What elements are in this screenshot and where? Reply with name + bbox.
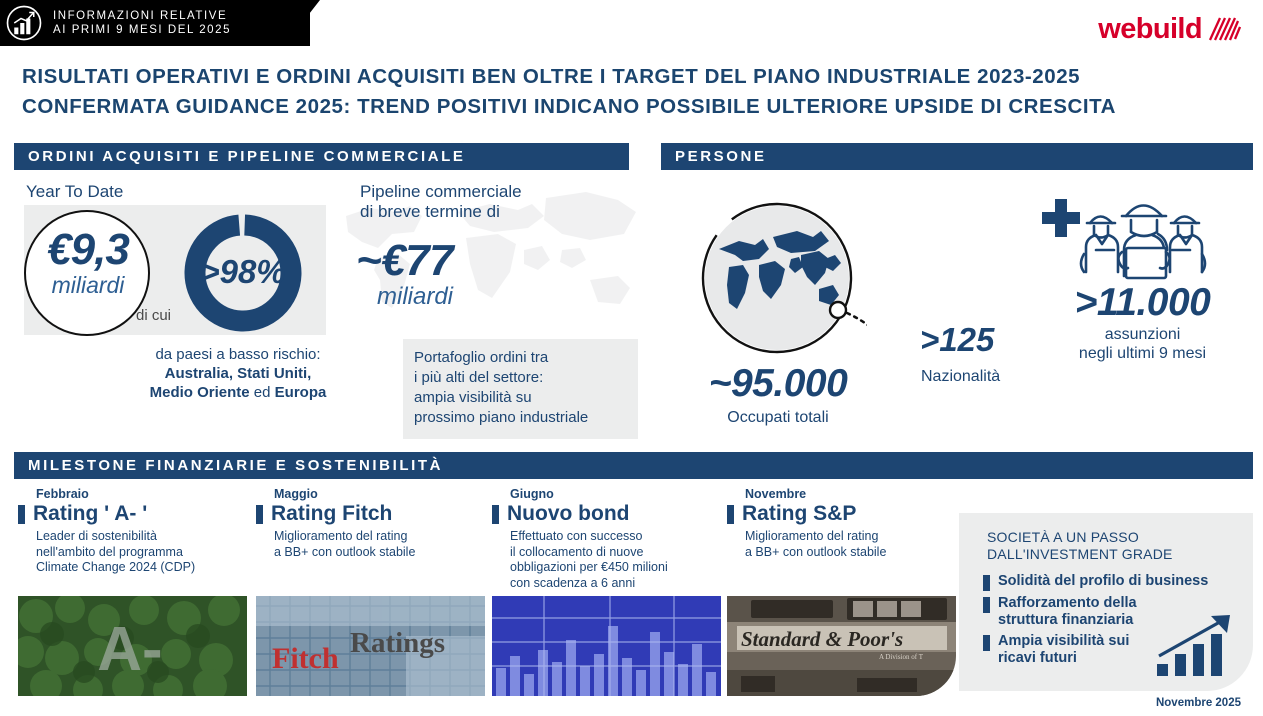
milestone-title: Rating S&P [742,502,856,526]
standard-and-poors-building-photo: Standard & Poor's A Division of T [727,596,956,696]
header-ribbon: INFORMAZIONI RELATIVE AI PRIMI 9 MESI DE… [0,0,310,46]
milestone-item: Febbraio Rating ' A- ' Leader di sosteni… [18,487,250,576]
ribbon-line-1: INFORMAZIONI RELATIVE [53,9,231,24]
milestone-tick-icon [492,505,499,524]
investment-grade-item-text: Solidità del profilo di business [998,573,1208,591]
fitch-ratings-building-photo: Fitch Ratings [256,596,485,696]
growth-bar-chart-icon [1155,612,1237,678]
portfolio-note-line-2: i più alti del settore: [414,368,628,388]
webuild-swoosh-icon [1207,15,1241,43]
pipeline-label-line-1: Pipeline commerciale [360,182,522,202]
hires-label: assunzioni negli ultimi 9 mesi [1040,325,1245,363]
section-header-people: PERSONE [661,143,1253,170]
bullet-tick-icon [983,635,990,651]
investment-grade-title-line-1: SOCIETÀ A UN PASSO [987,529,1173,546]
footer-date: Novembre 2025 [1156,697,1241,709]
list-item: Solidità del profilo di business [983,573,1213,591]
milestone-photo-caption: A- [97,615,162,684]
employees-value: ~95.000 [678,363,878,405]
milestone-month: Febbraio [36,487,250,501]
brand-logo: webuild [1098,14,1241,44]
milestone-desc-line: a BB+ con outlook stabile [745,545,959,561]
milestone-month: Novembre [745,487,959,501]
employees-label: Occupati totali [678,409,878,427]
hires-label-line-1: assunzioni [1040,325,1245,344]
nationalities-label: Nazionalità [921,368,1000,386]
milestone-desc-line: obbligazioni per €450 milioni [510,560,724,576]
milestone-desc-line: a BB+ con outlook stabile [274,545,488,561]
milestone-item: Novembre Rating S&P Miglioramento del ra… [727,487,959,560]
item-line: Solidità del profilo di business [998,573,1208,590]
section-header-orders: ORDINI ACQUISITI E PIPELINE COMMERCIALE [14,143,629,170]
milestone-title: Rating Fitch [271,502,392,526]
headline-line-2: CONFERMATA GUIDANCE 2025: TREND POSITIVI… [22,92,1254,122]
ytd-value-unit: miliardi [30,272,146,299]
milestone-title: Nuovo bond [507,502,629,526]
item-line: Rafforzamento della [998,595,1137,612]
bullet-tick-icon [983,597,990,613]
milestone-desc-line: Miglioramento del rating [745,529,959,545]
investment-grade-item-text: Rafforzamento della struttura finanziari… [998,595,1137,629]
ribbon-line-2: AI PRIMI 9 MESI DEL 2025 [53,23,231,38]
milestone-photo-caption-ratings: Ratings [350,627,445,659]
milestone-desc-line: Leader di sostenibilità [36,529,250,545]
brand-wordmark: webuild [1098,14,1202,44]
hires-value: >11.000 [1040,282,1245,324]
portfolio-note-line-3: ampia visibilità su [414,388,628,408]
milestone-tick-icon [256,505,263,524]
milestone-tick-icon [18,505,25,524]
low-risk-conjunction: ed [250,384,275,401]
low-risk-country-usa: Stati Uniti, [237,365,311,382]
ytd-label: Year To Date [26,182,123,202]
bar-chart-growth-icon [6,5,42,41]
item-line: struttura finanziaria [998,612,1137,629]
item-line: ricavi futuri [998,650,1129,667]
milestone-photo-subcaption: A Division of T [879,653,924,661]
milestone-desc-line: con scadenza a 6 anni [510,576,724,592]
item-line: Ampia visibilità sui [998,633,1129,650]
milestone-item: Maggio Rating Fitch Miglioramento del ra… [256,487,488,560]
milestone-photo-caption-fitch: Fitch [272,642,339,675]
portfolio-note-line-1: Portafoglio ordini tra [414,348,628,368]
milestone-desc-line: Climate Change 2024 (CDP) [36,560,250,576]
milestone-photo-caption: Standard & Poor's [741,627,903,651]
pipeline-label: Pipeline commerciale di breve termine di [360,182,522,222]
di-cui-label: di cui [136,307,171,324]
low-risk-country-europe: Europa [275,384,327,401]
world-globe-icon [697,193,867,363]
milestone-description: Miglioramento del rating a BB+ con outlo… [745,529,959,560]
milestone-desc-line: nell'ambito del programma [36,545,250,561]
milestone-description: Miglioramento del rating a BB+ con outlo… [274,529,488,560]
hires-label-line-2: negli ultimi 9 mesi [1040,344,1245,363]
infographic-page: INFORMAZIONI RELATIVE AI PRIMI 9 MESI DE… [0,0,1263,716]
plus-icon [1042,199,1080,237]
milestone-desc-line: Effettuato con successo [510,529,724,545]
portfolio-note-line-4: prossimo piano industriale [414,408,628,428]
pipeline-value-unit: miliardi [377,283,453,311]
portfolio-note: Portafoglio ordini tra i più alti del se… [403,339,638,439]
milestone-desc-line: il collocamento di nuove [510,545,724,561]
ytd-value: €9,3 [30,228,146,272]
milestone-desc-line: Miglioramento del rating [274,529,488,545]
investment-grade-title: SOCIETÀ A UN PASSO DALL'INVESTMENT GRADE [987,529,1173,563]
ribbon-text: INFORMAZIONI RELATIVE AI PRIMI 9 MESI DE… [53,9,231,38]
nationalities-value: >125 [920,322,994,358]
milestone-item: Giugno Nuovo bond Effettuato con success… [492,487,724,591]
headline-line-1: RISULTATI OPERATIVI E ORDINI ACQUISITI B… [22,62,1254,92]
milestone-tick-icon [727,505,734,524]
low-risk-intro: da paesi a basso rischio: [104,345,372,364]
milestone-month: Giugno [510,487,724,501]
forest-aerial-photo: A- [18,596,247,696]
milestone-description: Leader di sostenibilità nell'ambito del … [36,529,250,576]
milestone-month: Maggio [274,487,488,501]
low-risk-countries: da paesi a basso rischio: Australia, Sta… [104,345,372,402]
bullet-tick-icon [983,575,990,591]
pipeline-value: ~€77 [356,238,453,284]
low-risk-country-middle-east: Medio Oriente [150,384,250,401]
stock-chart-photo [492,596,721,696]
low-risk-line-1: Australia, Stati Uniti, [104,364,372,383]
low-risk-country-australia: Australia, [165,365,233,382]
low-risk-share-value: >98% [182,255,304,289]
investment-grade-item-text: Ampia visibilità sui ricavi futuri [998,633,1129,667]
section-header-milestones: MILESTONE FINANZIARIE E SOSTENIBILITÀ [14,452,1253,479]
investment-grade-title-line-2: DALL'INVESTMENT GRADE [987,546,1173,563]
milestone-description: Effettuato con successo il collocamento … [510,529,724,591]
milestone-title: Rating ' A- ' [33,502,147,526]
low-risk-line-2: Medio Oriente ed Europa [104,383,372,402]
page-title: RISULTATI OPERATIVI E ORDINI ACQUISITI B… [22,62,1254,122]
pipeline-label-line-2: di breve termine di [360,202,522,222]
